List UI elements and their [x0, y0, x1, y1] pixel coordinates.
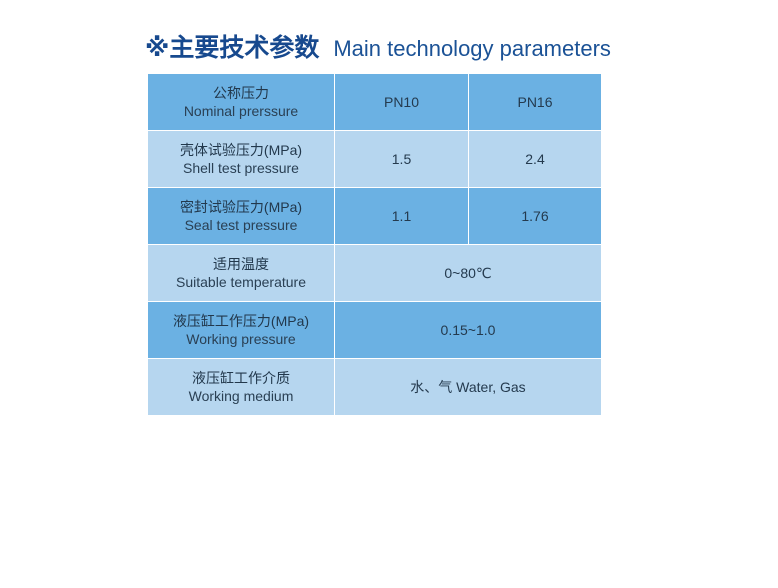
row-value-pn10: PN10: [335, 74, 469, 131]
row-value-merged: 0.15~1.0: [335, 302, 602, 359]
row-label-cell: 适用温度 Suitable temperature: [148, 245, 335, 302]
row-label-cell: 壳体试验压力(MPa) Shell test pressure: [148, 131, 335, 188]
row-label-chinese: 液压缸工作压力(MPa): [148, 312, 334, 330]
row-value-pn10: 1.1: [335, 188, 469, 245]
row-value-pn16: 2.4: [469, 131, 602, 188]
row-label-cell: 密封试验压力(MPa) Seal test pressure: [148, 188, 335, 245]
page-title: ※主要技术参数 Main technology parameters: [145, 28, 611, 64]
table-row: 壳体试验压力(MPa) Shell test pressure 1.5 2.4: [148, 131, 602, 188]
technology-parameters-table: 公称压力 Nominal prerssure PN10 PN16 壳体试验压力(…: [147, 73, 602, 416]
row-label-cell: 液压缸工作压力(MPa) Working pressure: [148, 302, 335, 359]
row-label-english: Seal test pressure: [148, 216, 334, 234]
title-chinese-text: 主要技术参数: [169, 34, 319, 62]
table-row: 适用温度 Suitable temperature 0~80℃: [148, 245, 602, 302]
row-value-pn16: PN16: [469, 74, 602, 131]
title-marker-icon: ※: [145, 34, 169, 62]
row-label-english: Shell test pressure: [148, 159, 334, 177]
row-label-chinese: 公称压力: [148, 84, 334, 102]
table-row: 公称压力 Nominal prerssure PN10 PN16: [148, 74, 602, 131]
page-title-english: Main technology parameters: [333, 36, 611, 62]
row-label-chinese: 液压缸工作介质: [148, 369, 334, 387]
row-label-english: Working pressure: [148, 330, 334, 348]
page-title-chinese: ※主要技术参数: [145, 28, 319, 64]
row-value-merged: 水、气 Water, Gas: [335, 359, 602, 416]
row-label-cell: 公称压力 Nominal prerssure: [148, 74, 335, 131]
row-label-chinese: 密封试验压力(MPa): [148, 198, 334, 216]
row-label-cell: 液压缸工作介质 Working medium: [148, 359, 335, 416]
row-label-english: Nominal prerssure: [148, 102, 334, 120]
page-root: ※主要技术参数 Main technology parameters 公称压力 …: [0, 0, 778, 588]
row-label-chinese: 壳体试验压力(MPa): [148, 141, 334, 159]
row-label-english: Working medium: [148, 387, 334, 405]
row-label-english: Suitable temperature: [148, 273, 334, 291]
row-label-chinese: 适用温度: [148, 255, 334, 273]
table-row: 液压缸工作介质 Working medium 水、气 Water, Gas: [148, 359, 602, 416]
row-value-pn10: 1.5: [335, 131, 469, 188]
table-row: 液压缸工作压力(MPa) Working pressure 0.15~1.0: [148, 302, 602, 359]
row-value-merged: 0~80℃: [335, 245, 602, 302]
table-row: 密封试验压力(MPa) Seal test pressure 1.1 1.76: [148, 188, 602, 245]
row-value-pn16: 1.76: [469, 188, 602, 245]
